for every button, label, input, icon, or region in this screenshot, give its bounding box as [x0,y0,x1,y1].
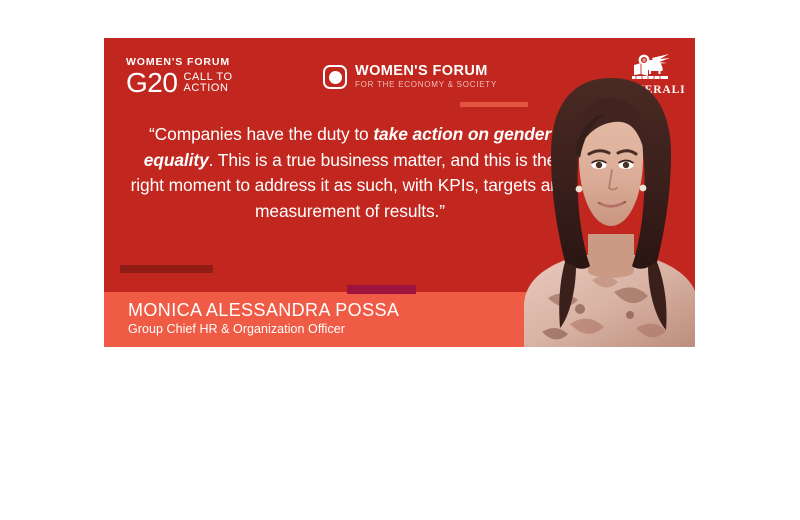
womens-forum-logo: WOMEN'S FORUM FOR THE ECONOMY & SOCIETY [323,64,497,90]
decorative-bar-magenta-bottom [347,285,416,294]
g20-call-line-2: ACTION [183,83,232,95]
quote-part-1: “Companies have the duty to [149,124,373,144]
speaker-portrait [518,66,695,347]
speaker-title: Group Chief HR & Organization Officer [128,322,345,337]
g20-lockup-bottom: G20 CALL TO ACTION [126,69,233,97]
speaker-name: MONICA ALESSANDRA POSSA [128,300,399,321]
womens-forum-text: WOMEN'S FORUM FOR THE ECONOMY & SOCIETY [355,64,497,90]
womens-forum-g20-logo: WOMEN'S FORUM G20 CALL TO ACTION [126,56,233,97]
quote-text: “Companies have the duty to take action … [128,122,572,224]
quote-card: WOMEN'S FORUM G20 CALL TO ACTION WOMEN'S… [104,38,695,347]
g20-mark: G20 [126,69,177,97]
decorative-bar-dark [120,265,213,273]
womens-forum-circle-icon [323,65,347,89]
womens-forum-subtitle: FOR THE ECONOMY & SOCIETY [355,80,497,90]
womens-forum-name: WOMEN'S FORUM [355,64,497,79]
g20-call-to-action: CALL TO ACTION [183,72,232,95]
